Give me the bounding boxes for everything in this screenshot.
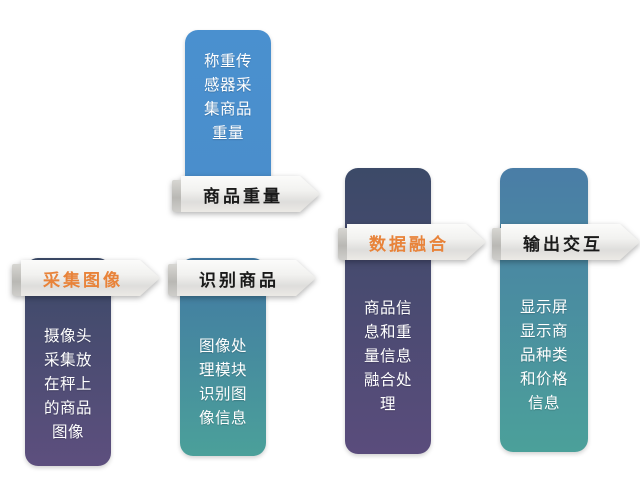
ribbon-label-capture: 采集图像: [43, 266, 123, 291]
ribbon-body: 商品重量: [181, 176, 320, 212]
ribbon-body: 数据融合: [347, 224, 486, 260]
ribbon-label-fusion: 数据融合: [369, 230, 449, 255]
ribbon-body: 采集图像: [21, 260, 160, 296]
process-box-camera-text: 摄像头采集放在秤上的商品图像: [37, 324, 99, 444]
process-box-weight-sensor[interactable]: 称重传感器采集商品重量: [185, 30, 271, 200]
process-box-display-output-text: 显示屏显示商品种类和价格信息: [513, 295, 575, 415]
ribbon-label-recognize: 识别商品: [199, 266, 279, 291]
ribbon-arrow-output[interactable]: 输出交互: [492, 224, 640, 260]
ribbon-label-output: 输出交互: [523, 230, 603, 255]
process-box-display-output[interactable]: 显示屏显示商品种类和价格信息: [500, 168, 588, 452]
ribbon-arrow-capture[interactable]: 采集图像: [12, 260, 160, 296]
ribbon-arrow-fusion[interactable]: 数据融合: [338, 224, 486, 260]
ribbon-body: 输出交互: [501, 224, 640, 260]
diagram-canvas: 称重传感器采集商品重量 摄像头采集放在秤上的商品图像 图像处理模块识别图像信息 …: [0, 0, 640, 481]
process-box-data-fusion[interactable]: 商品信息和重量信息融合处理: [345, 168, 431, 454]
process-box-data-fusion-text: 商品信息和重量信息融合处理: [357, 296, 419, 416]
ribbon-arrow-recognize[interactable]: 识别商品: [168, 260, 316, 296]
ribbon-body: 识别商品: [177, 260, 316, 296]
ribbon-arrow-weight[interactable]: 商品重量: [172, 176, 320, 212]
process-box-weight-sensor-text: 称重传感器采集商品重量: [197, 49, 259, 145]
process-box-image-processing-text: 图像处理模块识别图像信息: [192, 334, 254, 430]
ribbon-label-weight: 商品重量: [203, 182, 283, 207]
